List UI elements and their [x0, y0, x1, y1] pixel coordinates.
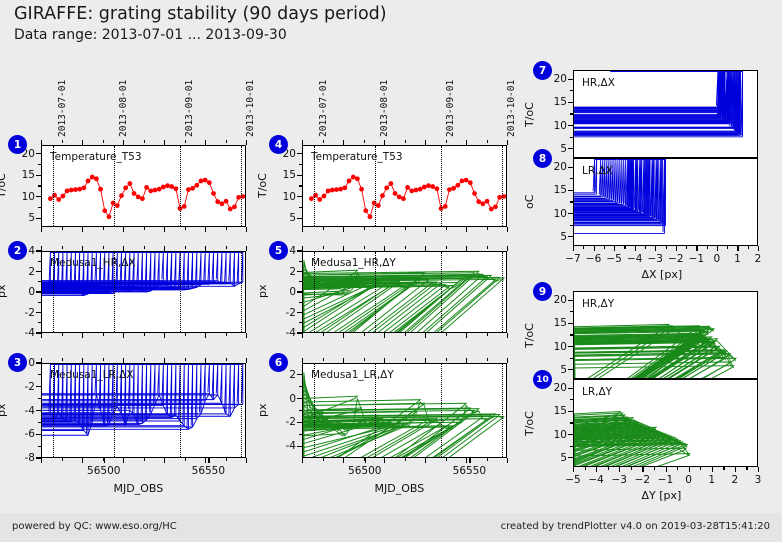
panel-badge-7: 7	[533, 61, 552, 80]
panel-3-ytick-minor	[38, 374, 41, 375]
panel-5-ytick-minor	[299, 322, 302, 323]
panel-9-title: HR,ΔY	[582, 298, 614, 310]
xtick	[487, 458, 488, 461]
panel-6-ytick-minor	[299, 434, 302, 435]
panel-6-xtick-label: 56500	[348, 465, 381, 477]
panel-badge-3: 3	[8, 353, 27, 372]
xtick	[164, 227, 165, 232]
panel-8-ytick	[568, 213, 573, 214]
xtick-top	[123, 358, 124, 363]
xtick	[446, 333, 447, 336]
panel-4-ylabel-value: 15	[268, 169, 296, 181]
xtick-top	[487, 358, 488, 361]
panel-8-xtick-label: 0	[714, 253, 721, 265]
xtick	[226, 333, 227, 336]
xtick-top	[507, 140, 508, 145]
date-gridline	[502, 146, 503, 227]
panel-1-ytick-minor	[38, 207, 41, 208]
xtick	[226, 227, 227, 230]
panel-1-ytick-minor	[38, 164, 41, 165]
panel-10-ytick-minor	[570, 446, 573, 447]
footer-generator: created by trendPlotter v4.0 on 2019-03-…	[501, 521, 770, 532]
panel-3-xtick-label: 56500	[87, 465, 120, 477]
panel-7-ytick-minor	[570, 113, 573, 114]
xtick-major	[619, 467, 620, 472]
panel-1-ytick	[36, 196, 41, 197]
xtick-minor	[686, 246, 687, 249]
xtick	[185, 333, 186, 336]
panel-2-ytick-minor	[38, 281, 41, 282]
date-gridline	[441, 252, 442, 333]
panel-2-title: Medusa1_HR,ΔX	[50, 257, 136, 269]
panel-10-xtick-label: −2	[635, 474, 650, 486]
xtick-top	[246, 246, 247, 251]
panel-9-ytick-minor	[570, 311, 573, 312]
xtick-top	[302, 140, 303, 145]
xtick	[507, 333, 508, 338]
xtick-top	[384, 140, 385, 145]
xtick	[82, 458, 83, 463]
xtick	[144, 333, 145, 336]
panel-6-title: Medusa1_LR,ΔY	[311, 369, 394, 381]
xtick-top	[425, 246, 426, 251]
panel-5-ytick-minor	[299, 281, 302, 282]
xtick	[446, 227, 447, 230]
panel-1-ytick	[36, 218, 41, 219]
xtick-top	[466, 140, 467, 145]
panel-9-ytick	[568, 369, 573, 370]
panel-7-ytick	[568, 148, 573, 149]
panel-4-yaxis-title: T/oC	[256, 174, 269, 199]
panel-3-ytick	[36, 434, 41, 435]
xtick-top	[487, 246, 488, 249]
xtick-top	[425, 140, 426, 145]
panel-1-ylabel-value: 15	[7, 169, 35, 181]
panel-6: Medusa1_LR,ΔY	[302, 363, 507, 458]
panel-9-ylabel-value: 15	[539, 317, 567, 329]
xtick-major	[696, 246, 697, 251]
panel-10-xtick-label: −1	[658, 474, 673, 486]
xtick-top	[103, 140, 104, 143]
panel-8-ytick	[568, 167, 573, 168]
panel-8-xtick-label: −6	[586, 253, 601, 265]
xtick	[205, 458, 206, 463]
panel-8-yaxis-title: oC	[523, 194, 536, 208]
panel-4-ytick-minor	[299, 185, 302, 186]
xtick-top	[384, 358, 385, 363]
panel-10-xtick-label: 1	[708, 474, 715, 486]
date-tick-label: 2013-09-01	[445, 80, 456, 137]
panel-3-xaxis-title: MJD_OBS	[114, 482, 164, 495]
xtick	[425, 458, 426, 463]
xtick-minor	[608, 467, 609, 470]
date-gridline	[241, 364, 242, 458]
xtick	[405, 333, 406, 336]
xtick-minor	[666, 246, 667, 249]
panel-4-ytick	[297, 218, 302, 219]
xtick-major	[758, 246, 759, 251]
xtick-top	[205, 246, 206, 251]
panel-8-xtick-label: −2	[668, 253, 683, 265]
panel-10-ylabel-value: 15	[539, 405, 567, 417]
xtick	[164, 458, 165, 463]
xtick-top	[41, 140, 42, 145]
xtick	[62, 333, 63, 336]
xtick-top	[405, 140, 406, 143]
panel-1-ylabel-value: 10	[7, 191, 35, 203]
xtick-minor	[723, 467, 724, 470]
xtick	[343, 333, 344, 338]
xtick	[384, 227, 385, 232]
xtick-top	[103, 246, 104, 249]
xtick-major	[635, 246, 636, 251]
panel-8-xtick-label: −5	[606, 253, 621, 265]
xtick-minor	[654, 467, 655, 470]
footer-credit: powered by QC: www.eso.org/HC	[12, 521, 177, 532]
xtick-top	[226, 246, 227, 249]
panel-badge-1: 1	[8, 135, 27, 154]
xtick-top	[246, 358, 247, 363]
panel-badge-4: 4	[269, 135, 288, 154]
panel-10-yaxis-title: T/oC	[523, 411, 536, 436]
panel-7-ytick-minor	[570, 90, 573, 91]
xtick-major	[655, 246, 656, 251]
xtick	[246, 458, 247, 463]
panel-9-ytick-minor	[570, 334, 573, 335]
date-tick-label: 2013-10-01	[506, 80, 517, 137]
xtick-top	[205, 140, 206, 145]
panel-4-ytick	[297, 196, 302, 197]
panel-10-xaxis-title: ΔY [px]	[642, 489, 682, 502]
panel-4-ylabel-value: 10	[268, 191, 296, 203]
xtick	[466, 333, 467, 338]
xtick-minor	[604, 246, 605, 249]
xtick	[82, 227, 83, 232]
panel-8-ytick	[568, 190, 573, 191]
panel-2-ylabel-value: 2	[7, 266, 35, 278]
panel-2-ytick-minor	[38, 261, 41, 262]
panel-1-ylabel-value: 5	[7, 212, 35, 224]
xtick-minor	[645, 246, 646, 249]
xtick	[466, 227, 467, 232]
xtick	[487, 227, 488, 230]
xtick	[343, 227, 344, 232]
xtick-top	[82, 140, 83, 145]
xtick	[205, 333, 206, 338]
xtick-top	[123, 140, 124, 145]
xtick-major	[758, 467, 759, 472]
panel-6-ytick	[297, 374, 302, 375]
panel-10-ytick-minor	[570, 422, 573, 423]
panel-10-ytick-minor	[570, 399, 573, 400]
xtick-minor	[707, 246, 708, 249]
panel-6-ytick	[297, 422, 302, 423]
xtick	[364, 333, 365, 336]
xtick	[302, 458, 303, 463]
xtick	[185, 227, 186, 230]
xtick-top	[364, 246, 365, 249]
xtick-top	[466, 358, 467, 363]
date-gridline	[241, 252, 242, 333]
panel-8-ytick-minor	[570, 225, 573, 226]
panel-8-xtick-label: −4	[627, 253, 642, 265]
panel-1-ytick	[36, 175, 41, 176]
panel-10-ylabel-value: 5	[539, 452, 567, 464]
panel-8-ytick	[568, 236, 573, 237]
panel-badge-10: 10	[533, 370, 552, 389]
xtick	[507, 227, 508, 232]
xtick	[246, 333, 247, 338]
panel-8-xtick-label: −3	[647, 253, 662, 265]
panel-3-ylabel-value: -4	[7, 405, 35, 417]
date-gridline	[502, 252, 503, 333]
panel-10-xtick-label: −3	[612, 474, 627, 486]
panel-7-ytick	[568, 79, 573, 80]
panel-badge-2: 2	[8, 241, 27, 260]
xtick-top	[466, 246, 467, 251]
panel-9-ylabel-value: 10	[539, 341, 567, 353]
panel-badge-6: 6	[269, 353, 288, 372]
xtick-top	[41, 358, 42, 363]
xtick-top	[364, 140, 365, 143]
panel-2-ylabel-value: -4	[7, 327, 35, 339]
xtick-major	[594, 246, 595, 251]
xtick-top	[364, 358, 365, 361]
page-title: GIRAFFE: grating stability (90 days peri…	[14, 4, 387, 24]
panel-7-yaxis-title: T/oC	[523, 102, 536, 127]
panel-8-title: LR,ΔX	[582, 165, 613, 177]
panel-badge-5: 5	[269, 241, 288, 260]
panel-badge-9: 9	[533, 282, 552, 301]
xtick-minor	[585, 467, 586, 470]
xtick-major	[689, 467, 690, 472]
panel-6-yaxis-title: px	[256, 403, 269, 417]
panel-5-ytick	[297, 291, 302, 292]
panel-3-ytick	[36, 410, 41, 411]
xtick	[384, 458, 385, 463]
xtick-top	[41, 246, 42, 251]
panel-2-ytick	[36, 312, 41, 313]
xtick-top	[507, 358, 508, 363]
date-gridline	[241, 146, 242, 227]
xtick	[185, 458, 186, 461]
xtick-top	[82, 246, 83, 251]
page-footer: powered by QC: www.eso.org/HC created by…	[0, 513, 782, 542]
panel-1-title: Temperature_T53	[50, 151, 142, 163]
panel-5-ytick-minor	[299, 261, 302, 262]
panel-10-ylabel-value: 10	[539, 429, 567, 441]
panel-10-xtick-label: 3	[755, 474, 762, 486]
xtick-top	[446, 358, 447, 361]
xtick-top	[144, 246, 145, 249]
xtick	[144, 458, 145, 461]
xtick-top	[62, 140, 63, 143]
panel-7-ytick-minor	[570, 137, 573, 138]
xtick-minor	[700, 467, 701, 470]
xtick-top	[446, 140, 447, 143]
panel-5: Medusa1_HR,ΔY	[302, 251, 507, 333]
panel-5-ytick	[297, 312, 302, 313]
xtick-top	[507, 246, 508, 251]
xtick-major	[104, 458, 105, 463]
panel-8-ylabel-value: 10	[539, 208, 567, 220]
xtick-top	[144, 358, 145, 361]
panel-2-ytick	[36, 271, 41, 272]
xtick-major	[596, 467, 597, 472]
xtick-top	[246, 140, 247, 145]
page-subtitle: Data range: 2013-07-01 ... 2013-09-30	[14, 27, 287, 43]
panel-2-ylabel-value: 0	[7, 286, 35, 298]
page-header: GIRAFFE: grating stability (90 days peri…	[0, 0, 782, 50]
panel-9-ytick	[568, 300, 573, 301]
panel-2: Medusa1_HR,ΔX	[41, 251, 246, 333]
xtick	[164, 333, 165, 338]
panel-3-title: Medusa1_LR,ΔX	[50, 369, 134, 381]
date-tick-label: 2013-07-01	[57, 80, 68, 137]
xtick-top	[302, 358, 303, 363]
date-tick-label: 2013-09-01	[184, 80, 195, 137]
xtick-top	[384, 246, 385, 251]
xtick-top	[144, 140, 145, 143]
panel-3-ytick	[36, 386, 41, 387]
panel-3: Medusa1_LR,ΔX	[41, 363, 246, 458]
xtick-top	[323, 246, 324, 249]
panel-3-ylabel-value: -6	[7, 428, 35, 440]
xtick-top	[343, 246, 344, 251]
panel-10-xtick-label: 0	[685, 474, 692, 486]
xtick	[41, 227, 42, 232]
xtick-top	[164, 140, 165, 145]
panel-6-xtick-label: 56550	[453, 465, 486, 477]
panel-10-ytick	[568, 388, 573, 389]
panel-8-xtick-label: −7	[565, 253, 580, 265]
xtick-top	[164, 246, 165, 251]
panel-2-yaxis-title: px	[0, 285, 8, 299]
panel-5-yaxis-title: px	[256, 285, 269, 299]
xtick-top	[425, 358, 426, 363]
xtick	[123, 333, 124, 338]
date-gridline	[180, 364, 181, 458]
xtick-top	[103, 358, 104, 361]
panel-9-ytick-minor	[570, 358, 573, 359]
panel-2-ylabel-value: -2	[7, 307, 35, 319]
xtick-top	[226, 140, 227, 143]
panel-8-ytick-minor	[570, 201, 573, 202]
panel-3-yaxis-title: px	[0, 403, 8, 417]
xtick	[446, 458, 447, 461]
xtick-top	[226, 358, 227, 361]
panel-8-xtick-label: 1	[734, 253, 741, 265]
panel-10-ytick	[568, 411, 573, 412]
xtick	[123, 227, 124, 232]
panel-5-ytick-minor	[299, 302, 302, 303]
panel-1-ytick	[36, 153, 41, 154]
panel-4-ytick-minor	[299, 164, 302, 165]
xtick	[123, 458, 124, 463]
xtick-top	[302, 246, 303, 251]
xtick-major	[573, 467, 574, 472]
xtick-top	[164, 358, 165, 363]
xtick	[144, 227, 145, 230]
xtick-top	[82, 358, 83, 363]
panel-3-ylabel-value: -8	[7, 452, 35, 464]
xtick-major	[712, 467, 713, 472]
panel-10-title: LR,ΔY	[582, 386, 612, 398]
xtick-top	[62, 358, 63, 361]
panel-6-ylabel-value: -2	[268, 416, 296, 428]
panel-3-ytick-minor	[38, 422, 41, 423]
xtick	[507, 458, 508, 463]
panel-4-ylabel-value: 5	[268, 212, 296, 224]
xtick	[343, 458, 344, 463]
panel-9-ytick	[568, 323, 573, 324]
xtick-top	[405, 246, 406, 249]
xtick	[323, 458, 324, 461]
panel-7-ytick	[568, 125, 573, 126]
panel-6-ytick	[297, 398, 302, 399]
xtick	[246, 227, 247, 232]
xtick-top	[487, 140, 488, 143]
panel-6-ytick-minor	[299, 386, 302, 387]
xtick	[323, 227, 324, 230]
panel-10-ytick	[568, 457, 573, 458]
xtick	[487, 333, 488, 336]
xtick	[62, 458, 63, 461]
panel-6-ylabel-value: 0	[268, 393, 296, 405]
panel-4: Temperature_T53	[302, 145, 507, 227]
panel-3-ytick-minor	[38, 446, 41, 447]
date-tick-label: 2013-07-01	[318, 80, 329, 137]
date-tick-label: 2013-08-01	[379, 80, 390, 137]
panel-5-ytick	[297, 271, 302, 272]
panel-3-ylabel-value: -2	[7, 381, 35, 393]
date-gridline	[441, 364, 442, 458]
panel-4-ytick	[297, 153, 302, 154]
panel-7-title: HR,ΔX	[582, 77, 615, 89]
xtick-top	[205, 358, 206, 363]
xtick	[226, 458, 227, 461]
panel-10-xtick-label: 2	[732, 474, 739, 486]
xtick	[103, 227, 104, 230]
panel-9: HR,ΔY	[573, 291, 758, 379]
xtick-major	[666, 467, 667, 472]
xtick-minor	[748, 246, 749, 249]
panel-8-ylabel-value: 15	[539, 184, 567, 196]
panel-6-ylabel-value: -4	[268, 440, 296, 452]
xtick-minor	[677, 467, 678, 470]
date-tick-label: 2013-08-01	[118, 80, 129, 137]
panel-4-title: Temperature_T53	[311, 151, 403, 163]
xtick	[405, 458, 406, 461]
panel-7-ytick	[568, 102, 573, 103]
xtick-minor	[631, 467, 632, 470]
date-tick-label: 2013-10-01	[245, 80, 256, 137]
panel-6-ytick-minor	[299, 410, 302, 411]
panel-7-ylabel-value: 15	[539, 96, 567, 108]
xtick-top	[343, 358, 344, 363]
xtick	[323, 333, 324, 336]
xtick-top	[343, 140, 344, 145]
panel-1: Temperature_T53	[41, 145, 246, 227]
xtick-major	[365, 458, 366, 463]
xtick-top	[446, 246, 447, 249]
panel-3-xtick-label: 56550	[192, 465, 225, 477]
panel-3-ytick-minor	[38, 398, 41, 399]
date-gridline	[180, 146, 181, 227]
panel-2-ytick-minor	[38, 322, 41, 323]
panel-5-ylabel-value: 2	[268, 266, 296, 278]
panel-10-ytick	[568, 434, 573, 435]
